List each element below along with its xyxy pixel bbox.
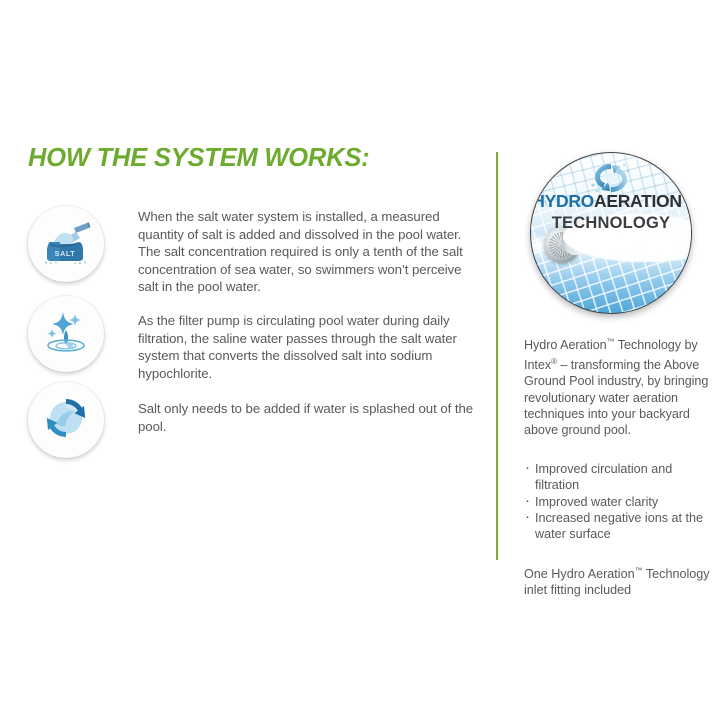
desc-part-1: Hydro Aeration: [524, 338, 607, 352]
logo-word-hydro: HYDRO: [532, 191, 594, 211]
hydro-aeration-logo-badge: HYDROAERATION™ TECHNOLOGY: [530, 152, 692, 314]
salt-bag-icon: SALT: [40, 220, 92, 269]
note-trademark-symbol: ™: [635, 566, 643, 575]
step-description: Salt only needs to be added if water is …: [138, 382, 478, 435]
step-description: As the filter pump is circulating pool w…: [138, 296, 478, 382]
steps-list: SALT When the salt water system is insta…: [28, 204, 478, 458]
step-icon-circle: [28, 382, 104, 458]
svg-text:SALT: SALT: [55, 249, 76, 258]
benefits-list: Improved circulation and filtration Impr…: [524, 461, 716, 543]
vertical-divider: [496, 152, 498, 560]
desc-trademark-symbol: ™: [607, 337, 615, 346]
inlet-fitting-note: One Hydro Aeration™ Technology inlet fit…: [524, 563, 716, 599]
water-droplet-sparkle-icon: [41, 308, 91, 359]
step-icon-circle: [28, 296, 104, 372]
logo-trademark-symbol: ™: [682, 193, 690, 202]
hydro-aeration-panel: HYDROAERATION™ TECHNOLOGY Hydro Aeration…: [524, 152, 716, 611]
recycle-arrows-icon: [42, 394, 90, 447]
product-info-panel: HOW THE SYSTEM WORKS:: [0, 0, 720, 720]
logo-wordmark: HYDROAERATION™ TECHNOLOGY: [531, 193, 691, 231]
logo-word-aeration: AERATION: [594, 191, 682, 211]
desc-part-3: – transforming the Above Ground Pool ind…: [524, 358, 708, 438]
step-description: When the salt water system is installed,…: [138, 204, 478, 296]
note-part-1: One Hydro Aeration: [524, 567, 635, 581]
list-item: Increased negative ions at the water sur…: [524, 510, 716, 543]
list-item: Improved water clarity: [524, 494, 716, 510]
hydro-aeration-description: Hydro Aeration™ Technology by Intex® – t…: [524, 334, 716, 439]
step-icon-circle: SALT: [28, 206, 104, 282]
list-item: SALT When the salt water system is insta…: [28, 204, 478, 296]
list-item: Improved circulation and filtration: [524, 461, 716, 494]
list-item: As the filter pump is circulating pool w…: [28, 296, 478, 382]
logo-word-technology: TECHNOLOGY: [531, 215, 691, 232]
page-title: HOW THE SYSTEM WORKS:: [28, 144, 369, 173]
list-item: Salt only needs to be added if water is …: [28, 382, 478, 458]
water-swirl-icon: [590, 161, 632, 195]
